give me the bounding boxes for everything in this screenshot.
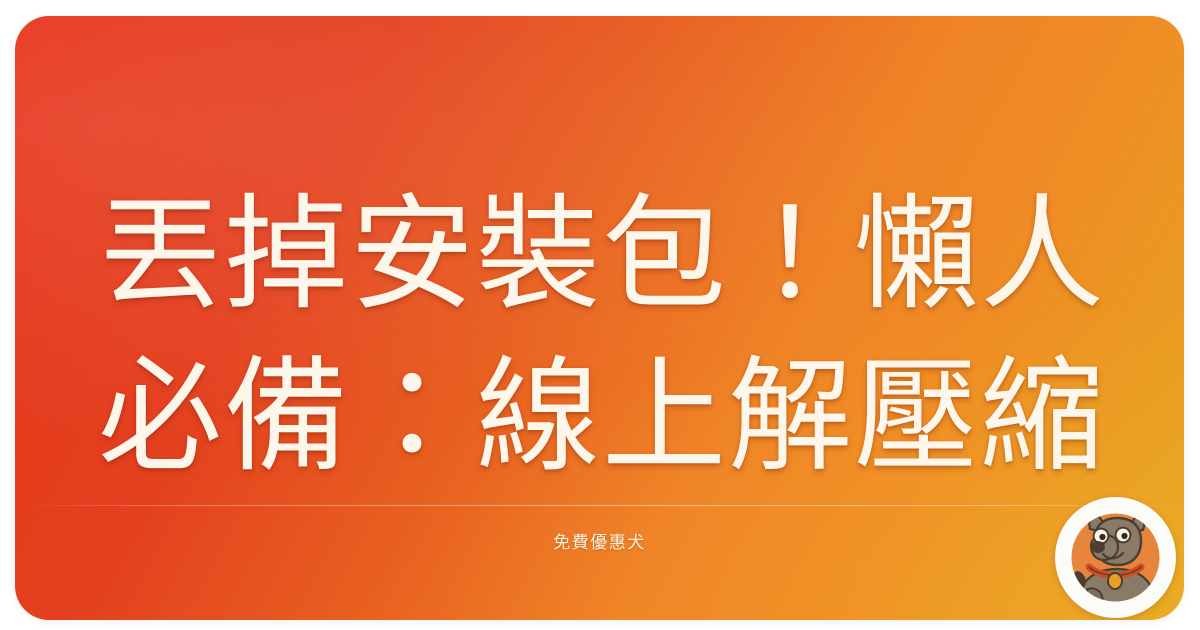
headline-line-1: 丟掉安裝包！懶人 bbox=[98, 174, 1184, 336]
dog-mascot-avatar bbox=[1055, 497, 1176, 618]
hero-gradient-card: 丟掉安裝包！懶人 必備：線上解壓縮 免費優惠犬 bbox=[15, 16, 1184, 620]
share-card-canvas: 丟掉安裝包！懶人 必備：線上解壓縮 免費優惠犬 bbox=[0, 0, 1200, 630]
headline-block: 丟掉安裝包！懶人 必備：線上解壓縮 bbox=[98, 174, 1184, 498]
headline-line-2: 必備：線上解壓縮 bbox=[98, 336, 1184, 498]
horizontal-divider bbox=[15, 505, 1184, 506]
site-caption: 免費優惠犬 bbox=[15, 528, 1184, 553]
